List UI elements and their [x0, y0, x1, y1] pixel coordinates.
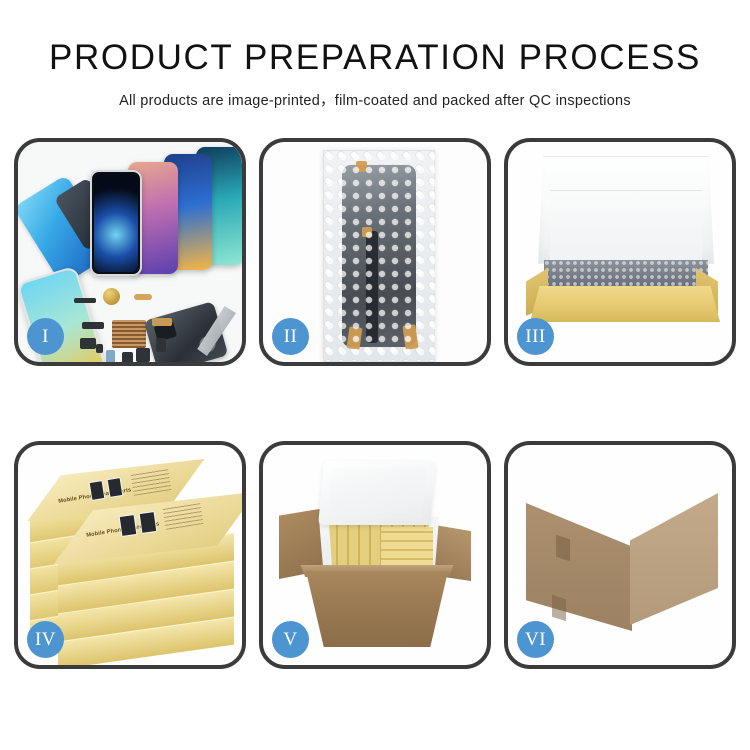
small-part-icon [74, 298, 96, 303]
step-badge-6: VI [517, 621, 554, 658]
step-badge-3: III [517, 318, 554, 355]
phone-black-icon [90, 170, 142, 276]
foam-padding-icon [544, 260, 708, 288]
carton-body-icon [303, 571, 451, 647]
step-panel-6[interactable]: VI [504, 441, 736, 669]
carton-tape-icon [552, 595, 566, 622]
product-preparation-infographic: PRODUCT PREPARATION PROCESS All products… [0, 0, 750, 750]
foam-lid-icon [318, 461, 436, 525]
step-panel-1[interactable]: I [14, 138, 246, 366]
label-screen-swatch [119, 514, 138, 537]
label-screen-swatch [139, 511, 158, 534]
small-part-icon [152, 318, 172, 326]
step-panel-2[interactable]: II [259, 138, 491, 366]
header: PRODUCT PREPARATION PROCESS All products… [0, 0, 750, 110]
small-part-icon [80, 338, 96, 349]
step-panel-4[interactable]: Mobile Phone Spare Parts Mobile Phone Sp… [14, 441, 246, 669]
step-badge-1: I [27, 318, 64, 355]
process-steps-grid: I II [14, 138, 736, 669]
yellow-boxes-row2-icon [381, 527, 433, 567]
page-title: PRODUCT PREPARATION PROCESS [0, 40, 750, 77]
gold-coin-part-icon [103, 288, 120, 305]
box-tray-front-icon [530, 286, 720, 322]
label-screen-swatch [107, 477, 124, 498]
step-panel-3[interactable]: III [504, 138, 736, 366]
tape-icon [362, 227, 372, 237]
small-part-icon [106, 350, 115, 362]
label-screen-swatch [89, 480, 106, 501]
small-part-icon [156, 338, 166, 352]
small-part-icon [136, 348, 150, 362]
small-part-icon [122, 352, 133, 362]
chip-grid-part-icon [112, 320, 146, 348]
flex-cable-icon [366, 231, 378, 343]
lcd-screen-icon [342, 165, 416, 347]
page-subtitle: All products are image-printed，film-coat… [0, 89, 750, 110]
small-part-icon [82, 322, 104, 329]
tape-icon [402, 324, 418, 350]
tape-icon [356, 161, 367, 172]
small-part-icon [134, 294, 152, 300]
step-badge-4: IV [27, 621, 64, 658]
step-badge-2: II [272, 318, 309, 355]
box-lid-inner-icon [550, 190, 702, 264]
step-badge-5: V [272, 621, 309, 658]
bubble-wrap-bag-icon [323, 150, 435, 362]
step-panel-5[interactable]: V [259, 441, 491, 669]
small-part-icon [96, 344, 103, 353]
carton-tape-icon [556, 535, 570, 562]
